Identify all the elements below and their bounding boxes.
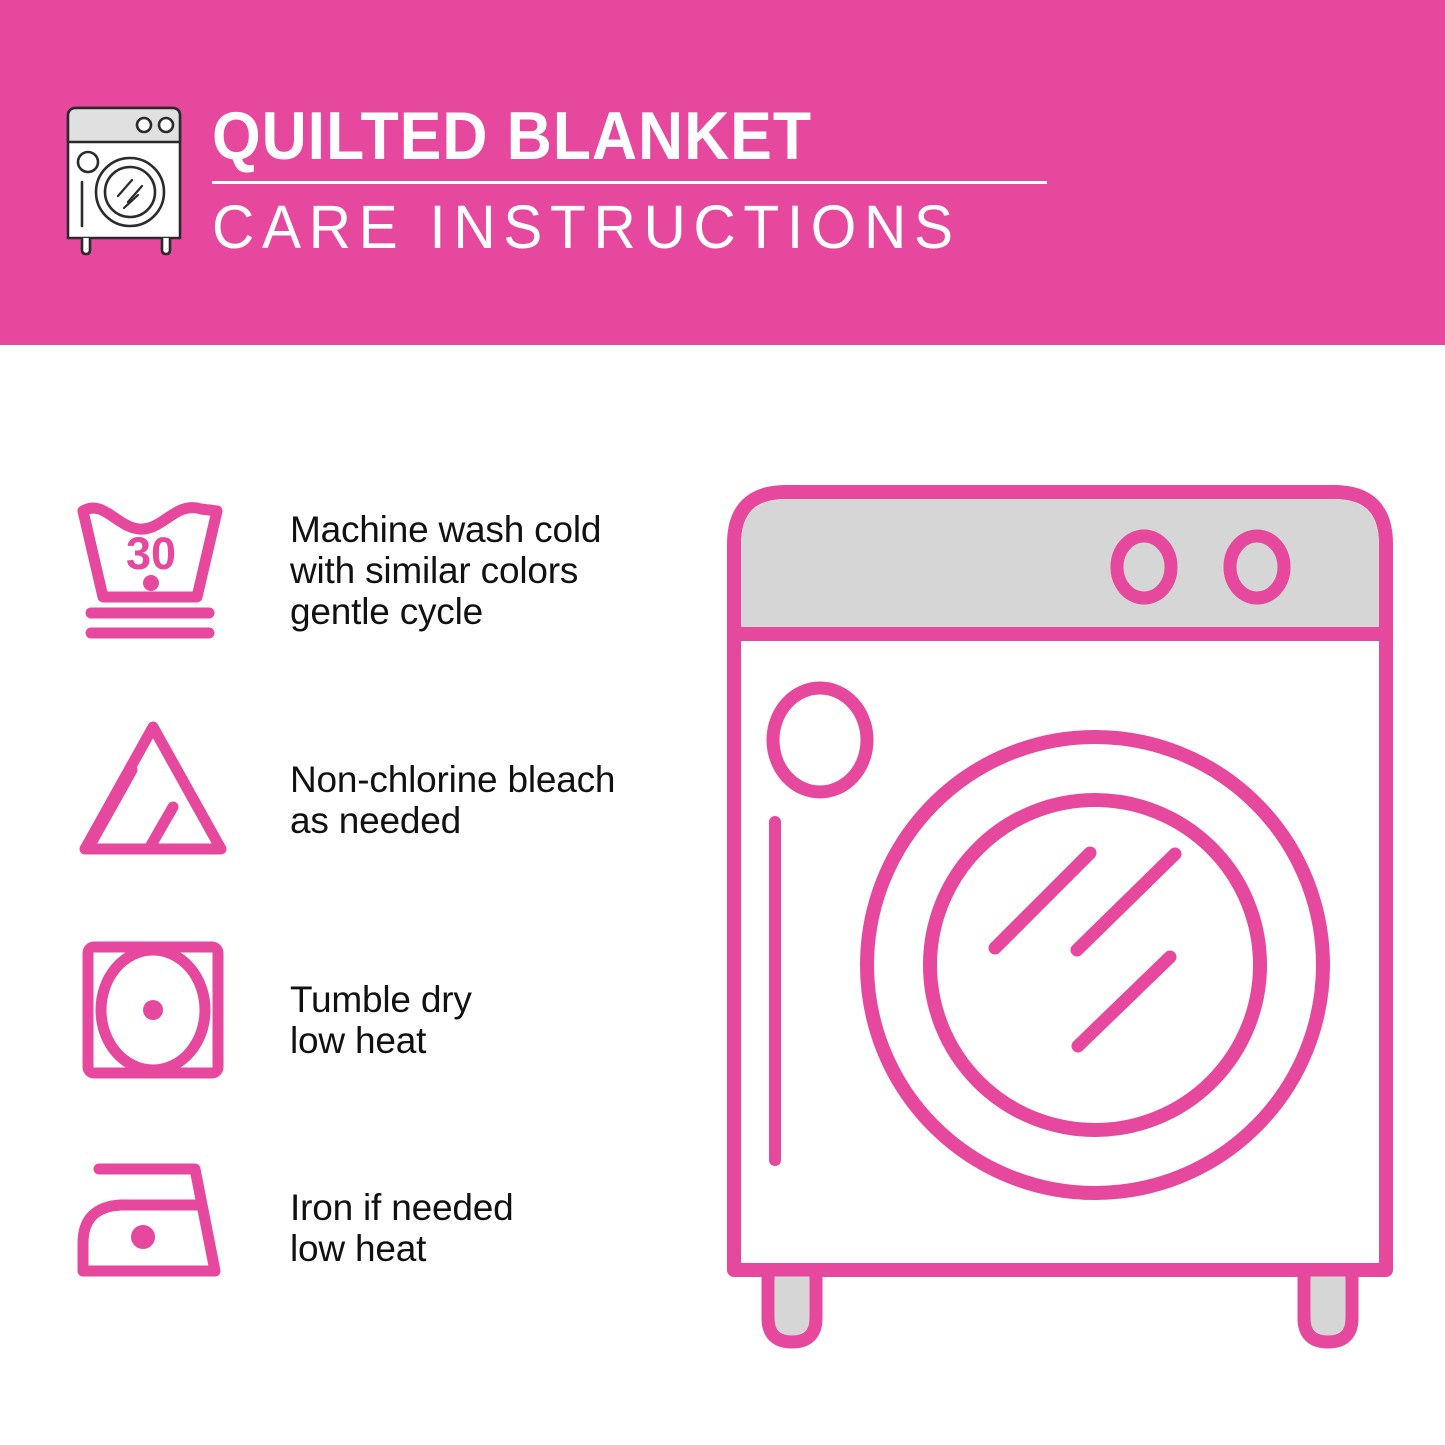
- care-text-iron: Iron if needed low heat: [290, 1145, 513, 1269]
- care-row-bleach: Non-chlorine bleach as needed: [0, 715, 700, 865]
- title-divider: [212, 181, 1047, 184]
- care-line: Machine wash cold: [290, 509, 601, 550]
- knob-left[interactable]: [1117, 536, 1171, 598]
- header-content: QUILTED BLANKET CARE INSTRUCTIONS: [62, 96, 1047, 261]
- care-instruction-list: 30 Machine wash cold with similar colors…: [0, 345, 700, 1445]
- wash-dot: [143, 575, 159, 591]
- leg-right: [1304, 1270, 1352, 1342]
- care-symbol-wrapper: [65, 715, 240, 865]
- care-symbol-wrapper: [65, 1145, 240, 1295]
- wash-temperature-label: 30: [125, 528, 175, 579]
- care-line: low heat: [290, 1020, 472, 1061]
- care-text-tumble-dry: Tumble dry low heat: [290, 935, 472, 1061]
- care-line: with similar colors: [290, 550, 601, 591]
- care-text-machine-wash: Machine wash cold with similar colors ge…: [290, 493, 601, 632]
- tumble-dry-dot: [143, 1000, 163, 1020]
- care-text-bleach: Non-chlorine bleach as needed: [290, 715, 615, 841]
- care-symbol-wrapper: [65, 935, 240, 1085]
- washing-machine-icon: [62, 100, 190, 260]
- bleach-triangle-stripes-icon: [69, 715, 237, 865]
- page-subtitle: CARE INSTRUCTIONS: [212, 193, 1014, 261]
- care-line: as needed: [290, 800, 615, 841]
- iron-low-icon: [69, 1145, 237, 1295]
- tumble-dry-low-icon: [69, 935, 237, 1085]
- iron-dot: [131, 1225, 155, 1249]
- care-line: Tumble dry: [290, 979, 472, 1020]
- care-line: gentle cycle: [290, 591, 601, 632]
- care-line: Non-chlorine bleach: [290, 759, 615, 800]
- page-title: QUILTED BLANKET: [212, 98, 980, 174]
- care-row-tumble-dry: Tumble dry low heat: [0, 935, 700, 1085]
- leg-left: [768, 1270, 816, 1342]
- washing-machine-graphic: [720, 470, 1400, 1370]
- washing-machine-illustration: [720, 470, 1400, 1370]
- care-row-iron: Iron if needed low heat: [0, 1145, 700, 1295]
- care-line: Iron if needed: [290, 1187, 513, 1228]
- header-banner: QUILTED BLANKET CARE INSTRUCTIONS: [0, 0, 1445, 345]
- wash-tub-30-icon: 30: [69, 493, 237, 643]
- header-titles: QUILTED BLANKET CARE INSTRUCTIONS: [212, 96, 1047, 261]
- care-line: low heat: [290, 1228, 513, 1269]
- knob-right[interactable]: [1230, 536, 1284, 598]
- care-row-machine-wash: 30 Machine wash cold with similar colors…: [0, 493, 700, 643]
- door-latch-circle: [773, 688, 867, 792]
- care-symbol-wrapper: 30: [65, 493, 240, 643]
